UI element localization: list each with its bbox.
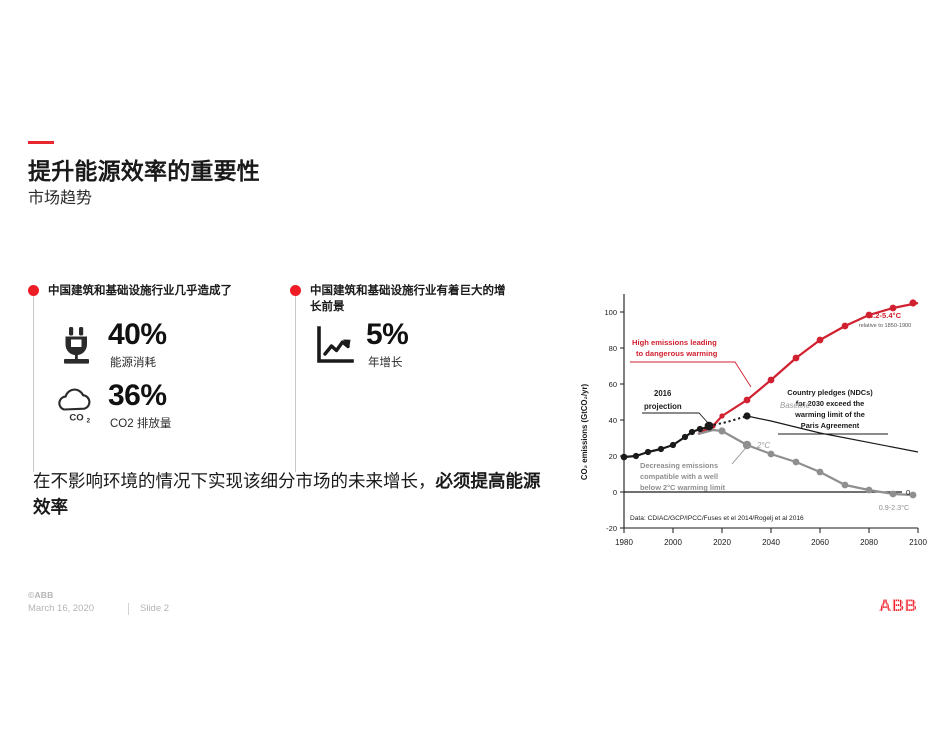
svg-text:2016: 2016 [654,389,672,398]
footer-slide-number: Slide 2 [140,603,169,614]
stat-value: 40% [108,318,167,352]
conclusion-text: 在不影响环境的情况下实现该细分市场的未来增长，必须提高能源效率 [33,468,553,520]
growth-chart-icon [312,322,358,368]
svg-text:Country pledges (NDCs): Country pledges (NDCs) [787,388,873,397]
bullet-stem [33,296,34,472]
svg-text:2: 2 [87,418,91,425]
svg-text:60: 60 [609,380,617,389]
svg-text:2000: 2000 [664,538,682,547]
plug-icon [54,322,100,368]
x-tick-labels: 1980 2000 2020 2040 2060 2080 2100 [615,538,927,547]
svg-text:projection: projection [644,402,682,411]
svg-text:2060: 2060 [811,538,829,547]
svg-text:High emissions leading: High emissions leading [632,338,717,347]
page-title: 提升能源效率的重要性 [28,152,260,186]
svg-text:2020: 2020 [713,538,731,547]
page-subtitle: 市场趋势 [28,184,92,208]
chart-axes [620,294,918,533]
chart-svg: 100 80 60 40 20 0 -20 1980 2000 2020 204… [572,282,938,560]
abb-logo: ABB [879,596,931,614]
co2-cloud-icon: CO 2 [54,383,100,429]
stat-row-co2-emissions: CO 2 36% CO2 排放量 [54,383,264,435]
bullet-stem [295,296,296,472]
footer-copyright: ©ABB [28,590,53,600]
y-axis-title: CO₂ emissions (GtCO₂/yr) [580,384,589,481]
stat-row-annual-growth: 5% 年增长 [312,322,512,374]
svg-text:100: 100 [604,308,617,317]
y-tick-labels: 100 80 60 40 20 0 -20 [604,308,617,533]
co2-emissions-chart: 100 80 60 40 20 0 -20 1980 2000 2020 204… [572,282,938,560]
series-2016-projection [709,416,747,426]
series-historical [621,422,714,461]
bullet-heading: 中国建筑和基础设施行业有着巨大的增长前景 [310,283,515,315]
annotation-high-emissions: High emissions leading to dangerous warm… [630,338,751,387]
svg-text:20: 20 [609,452,617,461]
svg-text:ABB: ABB [879,596,917,614]
conclusion-normal: 在不影响环境的情况下实现该细分市场的未来增长， [33,471,436,491]
svg-text:40: 40 [609,416,617,425]
svg-text:Paris Agreement: Paris Agreement [801,421,860,430]
label-warming-high-reference: relative to 1850-1900 [859,323,912,329]
svg-text:warming limit of the: warming limit of the [794,410,865,419]
label-zero-line: 0 [906,488,910,497]
footer-divider [128,603,129,615]
stat-value: 36% [108,379,167,413]
bullet-dot-icon [28,285,39,296]
svg-text:below 2°C warming limit: below 2°C warming limit [640,483,726,492]
label-warming-high: 3.2-5.4°C [869,311,902,320]
series-two-degree [698,427,916,498]
svg-text:to dangerous warming: to dangerous warming [636,349,718,358]
svg-text:CO: CO [69,413,83,424]
svg-text:0: 0 [613,488,617,497]
footer-date: March 16, 2020 [28,603,94,614]
annotation-2016-projection: 2016 projection [642,389,709,424]
stat-value: 5% [366,318,408,352]
chart-source-note: Data: CDIAC/GCP/IPCC/Fuses et el 2014/Ro… [630,515,804,522]
bullet-dot-icon [290,285,301,296]
annotation-decreasing-emissions: Decreasing emissions compatible with a w… [640,446,747,492]
stat-row-energy-consumption: 40% 能源消耗 [54,322,264,374]
svg-text:1980: 1980 [615,538,633,547]
svg-text:-20: -20 [606,524,617,533]
svg-text:compatible with a well: compatible with a well [640,472,718,481]
svg-text:2100: 2100 [909,538,927,547]
label-baseline: Baseline [780,401,811,410]
svg-text:2040: 2040 [762,538,780,547]
stat-label: 能源消耗 [110,354,156,370]
bullet-heading: 中国建筑和基础设施行业几乎造成了 [48,283,288,299]
svg-text:2080: 2080 [860,538,878,547]
svg-text:Decreasing emissions: Decreasing emissions [640,461,718,470]
stat-label: 年增长 [368,354,403,370]
label-two-degree: 2°C [756,441,770,450]
stat-label: CO2 排放量 [110,415,171,431]
label-warming-low: 0.9-2.3°C [879,503,909,512]
projection-endpoint-marker [743,412,750,419]
title-accent-rule [28,141,54,144]
svg-text:80: 80 [609,344,617,353]
